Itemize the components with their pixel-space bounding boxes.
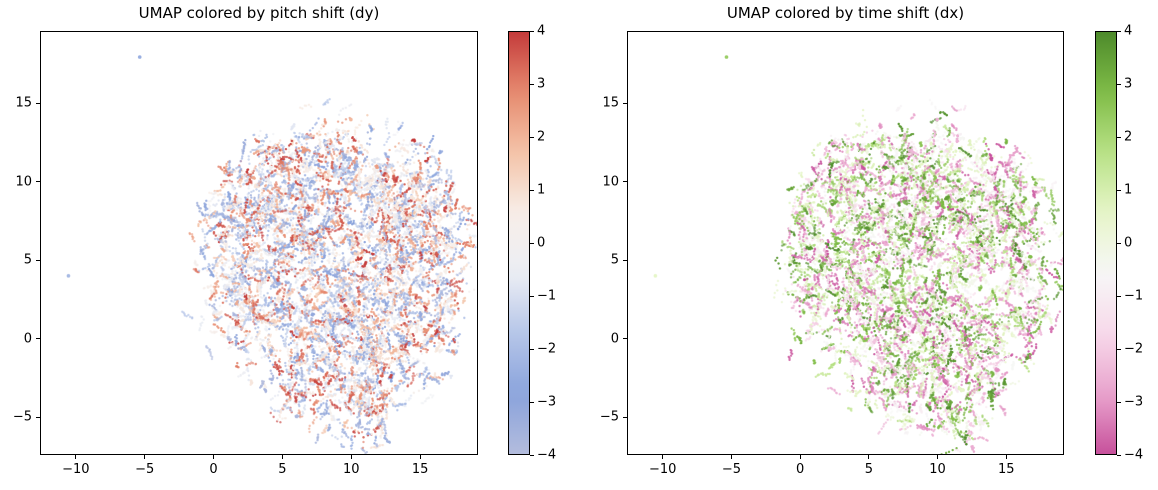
colorbar-time-shift bbox=[1095, 31, 1117, 455]
colorbar-tick-label: 0 bbox=[1124, 236, 1132, 251]
x-tick-label: −10 bbox=[649, 462, 676, 477]
y-tick-label: 0 bbox=[583, 331, 619, 346]
x-tick-mark bbox=[662, 455, 663, 459]
colorbar-tick-label: −4 bbox=[1124, 448, 1143, 463]
x-tick-mark bbox=[800, 455, 801, 459]
x-tick-label: 5 bbox=[865, 462, 873, 477]
colorbar-tick-label: −3 bbox=[1124, 395, 1143, 410]
colorbar-tick-mark bbox=[1117, 349, 1121, 350]
panel-title-time-shift: UMAP colored by time shift (dx) bbox=[627, 4, 1064, 22]
y-tick-mark bbox=[623, 181, 627, 182]
x-tick-mark bbox=[1006, 455, 1007, 459]
colorbar-tick-mark bbox=[1117, 296, 1121, 297]
x-tick-label: 10 bbox=[929, 462, 946, 477]
y-tick-mark bbox=[623, 260, 627, 261]
scatter-points-time-shift bbox=[628, 32, 1063, 454]
panel-time-shift: UMAP colored by time shift (dx) −10−5051… bbox=[0, 0, 1158, 490]
colorbar-tick-label: 2 bbox=[1124, 130, 1132, 145]
x-tick-mark bbox=[937, 455, 938, 459]
colorbar-tick-mark bbox=[1117, 190, 1121, 191]
colorbar-tick-label: −2 bbox=[1124, 342, 1143, 357]
y-tick-mark bbox=[623, 417, 627, 418]
colorbar-tick-mark bbox=[1117, 84, 1121, 85]
y-tick-label: −5 bbox=[583, 410, 619, 425]
colorbar-gradient-time-shift bbox=[1096, 32, 1116, 454]
y-tick-label: 10 bbox=[583, 174, 619, 189]
colorbar-tick-label: 1 bbox=[1124, 183, 1132, 198]
colorbar-tick-mark bbox=[1117, 31, 1121, 32]
y-tick-label: 15 bbox=[583, 96, 619, 111]
colorbar-tick-mark bbox=[1117, 402, 1121, 403]
colorbar-tick-mark bbox=[1117, 137, 1121, 138]
x-tick-mark bbox=[868, 455, 869, 459]
x-tick-label: 0 bbox=[796, 462, 804, 477]
y-tick-mark bbox=[623, 338, 627, 339]
scatter-axes-time-shift[interactable] bbox=[627, 31, 1064, 455]
colorbar-tick-label: 3 bbox=[1124, 77, 1132, 92]
x-tick-mark bbox=[731, 455, 732, 459]
colorbar-tick-mark bbox=[1117, 243, 1121, 244]
x-tick-label: 15 bbox=[998, 462, 1015, 477]
colorbar-tick-label: 4 bbox=[1124, 24, 1132, 39]
colorbar-tick-mark bbox=[1117, 455, 1121, 456]
x-tick-label: −5 bbox=[722, 462, 741, 477]
y-tick-mark bbox=[623, 103, 627, 104]
umap-figure: UMAP colored by pitch shift (dy) −10−505… bbox=[0, 0, 1158, 490]
y-tick-label: 5 bbox=[583, 253, 619, 268]
colorbar-tick-label: −1 bbox=[1124, 289, 1143, 304]
